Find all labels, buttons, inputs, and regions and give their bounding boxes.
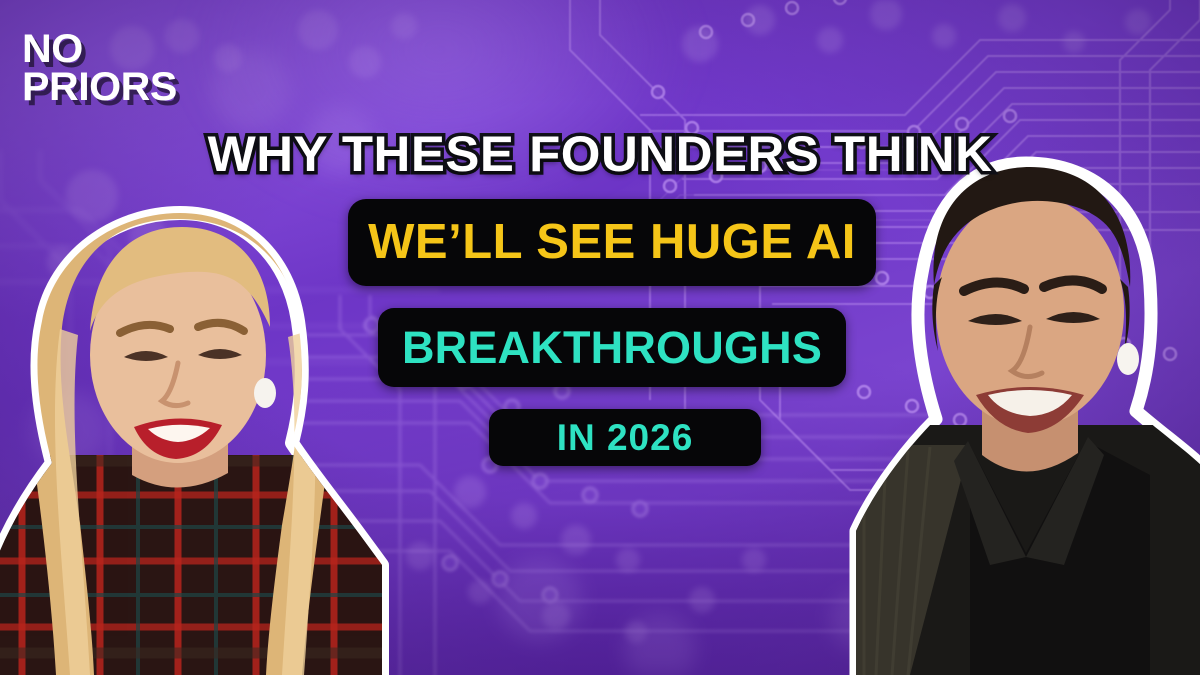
highlight-line-1: WE’LL SEE HUGE AI <box>348 199 876 286</box>
highlight-text-2: BREAKTHROUGHS <box>402 325 822 370</box>
logo-line-2: PRIORS <box>22 68 177 106</box>
speaker-right-cutout <box>850 145 1200 675</box>
headline-line-1: WHY THESE FOUNDERS THINK <box>0 129 1200 179</box>
highlight-text-1: WE’LL SEE HUGE AI <box>368 218 856 267</box>
highlight-line-3: IN 2026 <box>489 409 761 466</box>
airpod-icon <box>1117 343 1139 375</box>
no-priors-logo[interactable]: NO PRIORS <box>22 30 177 106</box>
speaker-left-cutout <box>0 205 382 675</box>
highlight-line-2: BREAKTHROUGHS <box>378 308 846 387</box>
video-thumbnail: NO PRIORS WHY THESE FOUNDERS THINK WE’LL… <box>0 0 1200 675</box>
highlight-text-3: IN 2026 <box>557 419 694 456</box>
airpod-icon <box>254 378 276 408</box>
